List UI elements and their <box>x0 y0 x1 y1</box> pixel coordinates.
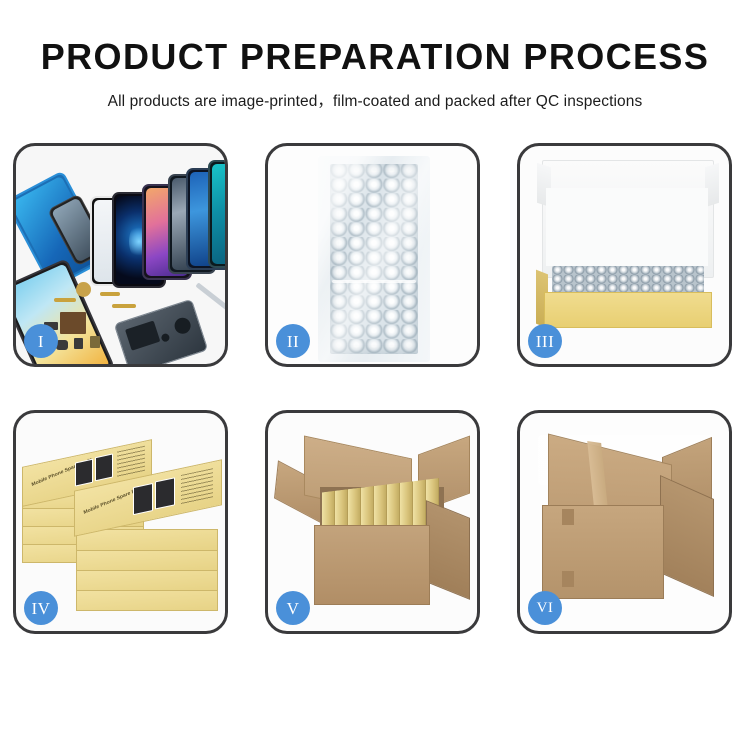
phone-display-teal-icon <box>208 160 225 268</box>
phone-logic-board-icon <box>114 299 209 364</box>
bubble-wrap-pouch-icon <box>318 156 430 362</box>
process-step-grid: I II III <box>13 143 737 678</box>
process-step-panel-6: VI <box>517 410 732 634</box>
carton-front-panel <box>314 525 430 605</box>
stacked-box-f4 <box>76 569 218 591</box>
page-subtitle: All products are image-printed，film-coat… <box>0 78 750 111</box>
step-badge-2: II <box>276 324 310 358</box>
process-step-panel-3: III <box>517 143 732 367</box>
stacked-box-f3 <box>76 549 218 571</box>
sealed-carton-front-panel <box>542 505 664 599</box>
stacked-box-f5 <box>76 589 218 611</box>
carton-seam-bottom <box>562 571 574 587</box>
spare-part-connector-grid-icon <box>60 312 86 334</box>
step-badge-6: VI <box>528 591 562 625</box>
process-step-panel-5: V <box>265 410 480 634</box>
process-step-panel-1: I <box>13 143 228 367</box>
spare-part-flex-cable-1-icon <box>54 298 76 302</box>
stacked-box-f2 <box>76 529 218 551</box>
carton-side-panel <box>426 500 470 600</box>
spare-part-flex-cable-3-icon <box>112 304 136 308</box>
tweezers-icon <box>195 282 225 314</box>
spare-part-flex-cable-2-icon <box>100 292 120 296</box>
inner-box-front-panel <box>544 292 712 328</box>
spare-part-battery-icon <box>90 336 100 348</box>
page-title: PRODUCT PREPARATION PROCESS <box>0 0 750 78</box>
product-preparation-page: PRODUCT PREPARATION PROCESS All products… <box>0 0 750 750</box>
step-badge-1: I <box>24 324 58 358</box>
spare-part-camera-icon <box>74 338 83 349</box>
step-badge-5: V <box>276 591 310 625</box>
carton-seam-top <box>562 509 574 525</box>
step-badge-3: III <box>528 324 562 358</box>
spare-part-coil-icon <box>76 282 91 297</box>
pouch-sheen <box>318 156 430 362</box>
process-step-panel-4: Mobile Phone Spare Parts Mobile Phone Sp… <box>13 410 228 634</box>
page-header: PRODUCT PREPARATION PROCESS All products… <box>0 0 750 111</box>
step-badge-4: IV <box>24 591 58 625</box>
process-step-panel-2: II <box>265 143 480 367</box>
foam-sheet-icon <box>546 188 708 266</box>
bubble-wrapped-product-icon <box>552 266 704 294</box>
